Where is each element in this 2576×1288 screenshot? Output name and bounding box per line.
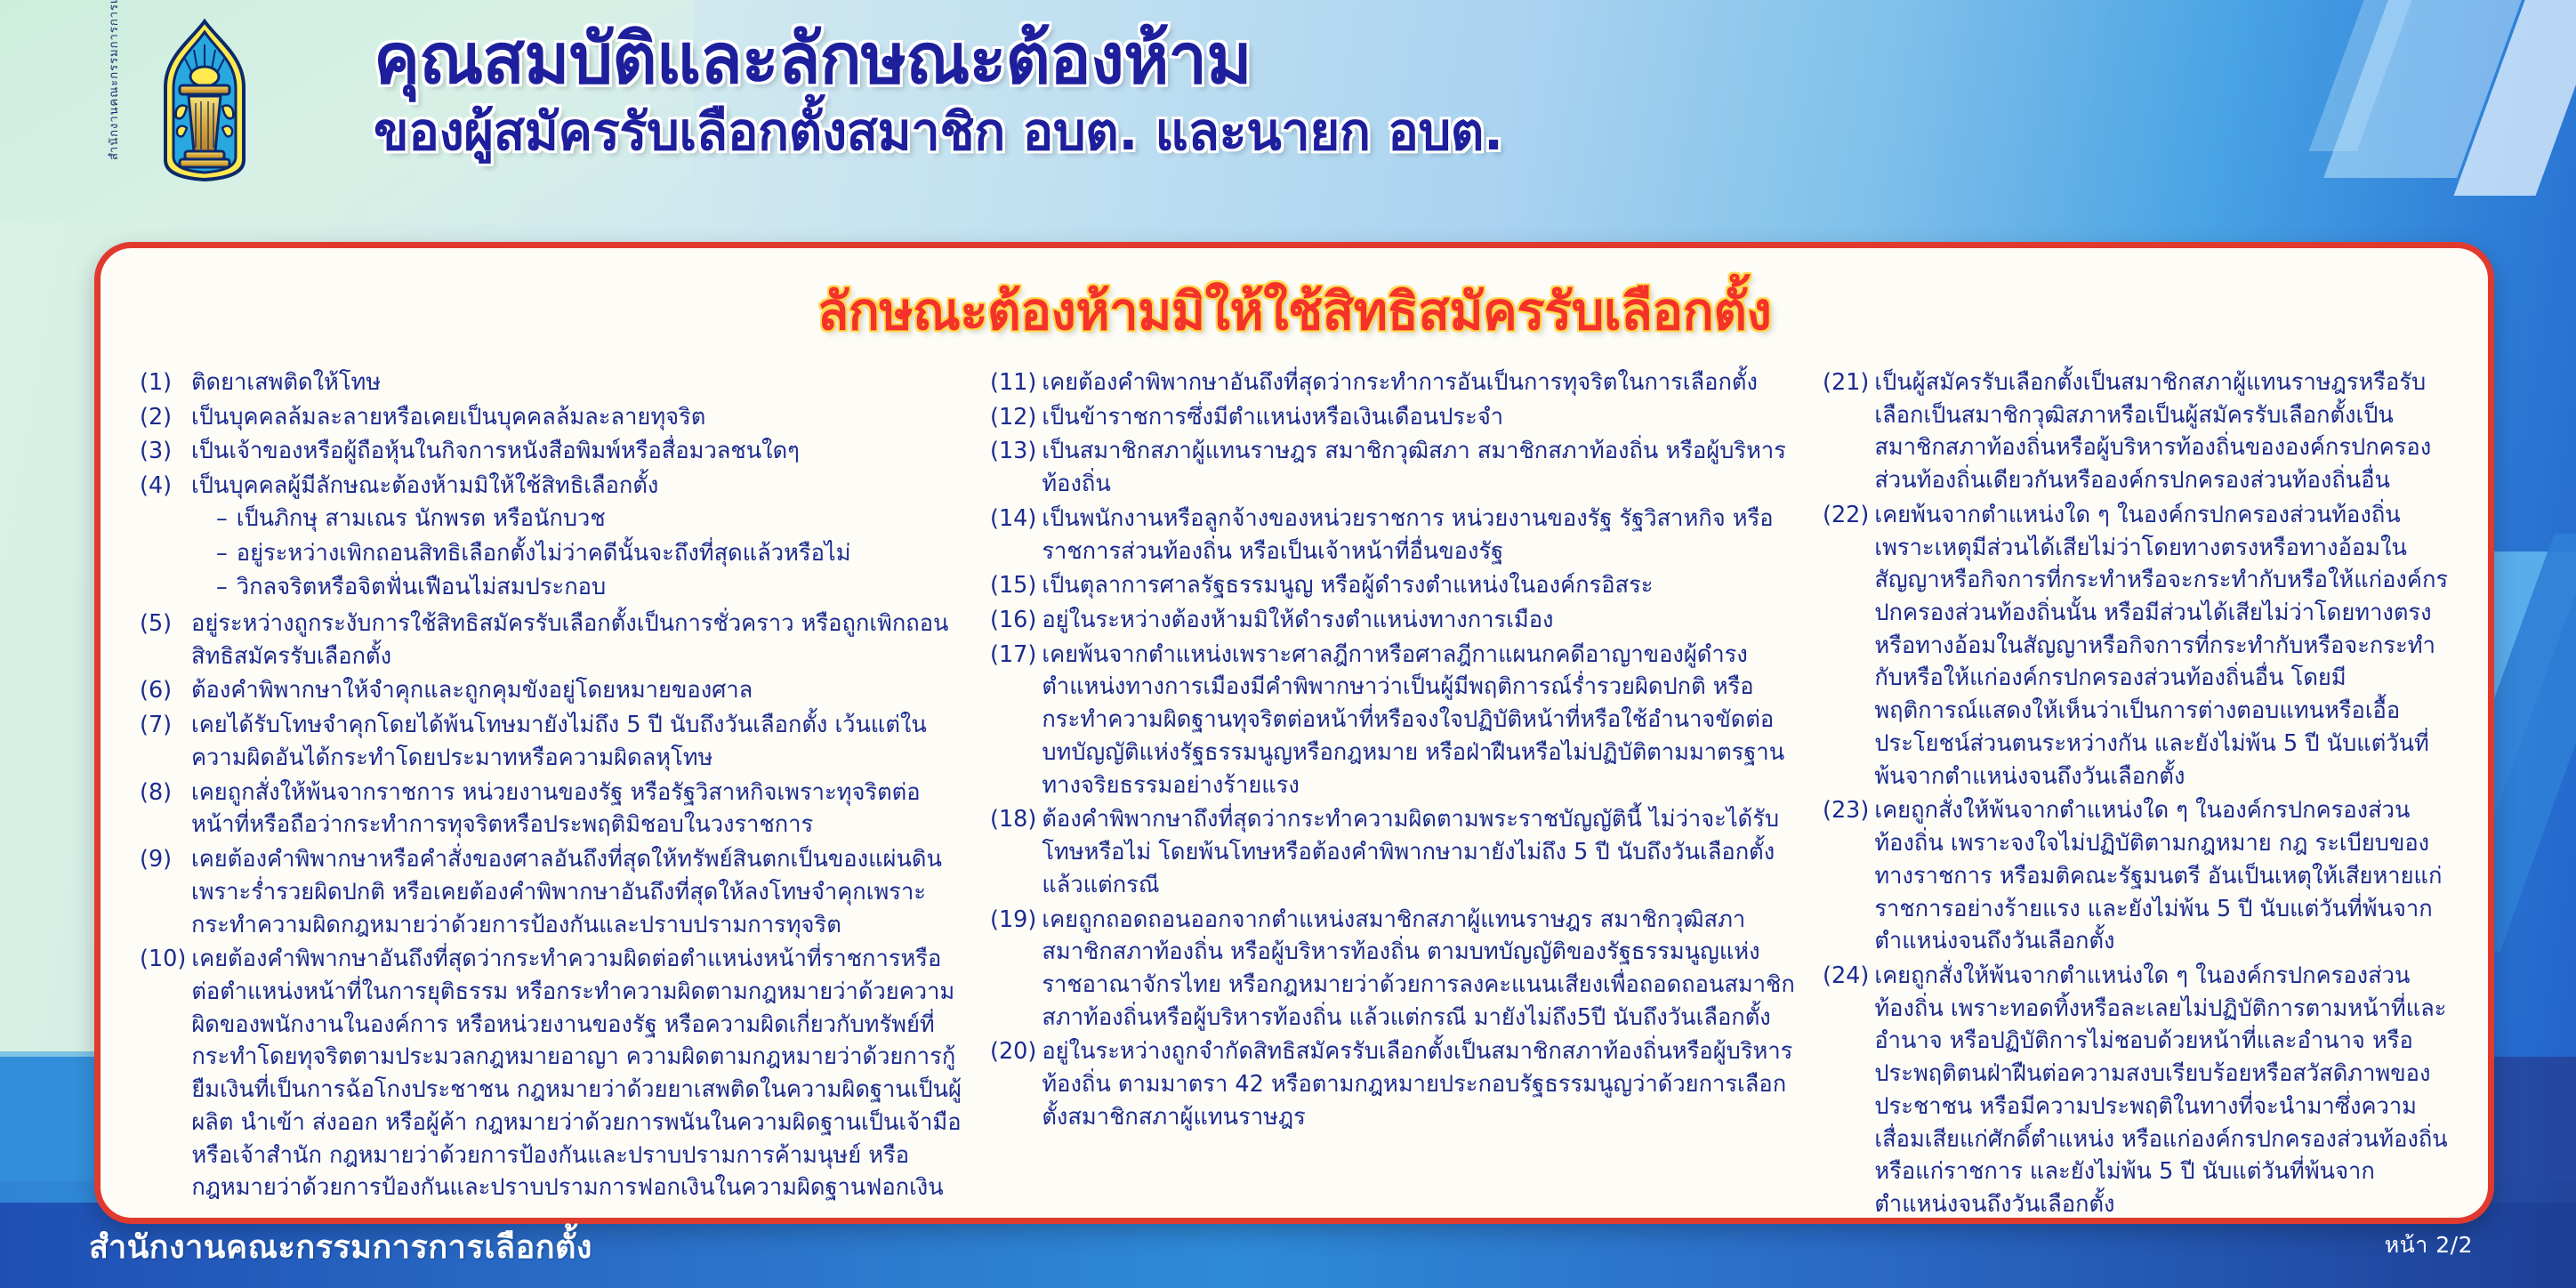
prohibition-item-text: ต้องคำพิพากษาถึงที่สุดว่ากระทำความผิดตาม… xyxy=(1042,803,1798,901)
prohibition-item: (13)เป็นสมาชิกสภาผู้แทนราษฎร สมาชิกวุฒิส… xyxy=(990,435,1798,500)
prohibition-item: (24)เคยถูกสั่งให้พ้นจากตำแหน่งใด ๆ ในองค… xyxy=(1823,960,2449,1221)
prohibition-item: (14)เป็นพนักงานหรือลูกจ้างของหน่วยราชการ… xyxy=(990,503,1798,568)
prohibition-item: (25)ลักษณะอื่นตามที่กฎหมายว่าด้วยการจัดต… xyxy=(1823,1223,2449,1224)
prohibition-item-text: ติดยาเสพติดให้โทษ xyxy=(191,366,965,399)
prohibition-item-number: (22) xyxy=(1823,499,1874,532)
prohibition-item: (23)เคยถูกสั่งให้พ้นจากตำแหน่งใด ๆ ในองค… xyxy=(1823,794,2449,958)
prohibition-item-number: (4) xyxy=(140,470,191,503)
prohibition-item: (4)เป็นบุคคลผู้มีลักษณะต้องห้ามมิให้ใช้ส… xyxy=(140,470,965,606)
column-2: (11)เคยต้องคำพิพากษาอันถึงที่สุดว่ากระทำ… xyxy=(978,366,1810,1224)
prohibition-subitem: –วิกลจริตหรือจิตฟั่นเฟือนไม่สมประกอบ xyxy=(191,571,965,604)
prohibition-item-number: (21) xyxy=(1823,366,1874,399)
prohibition-item: (2)เป็นบุคคลล้มละลายหรือเคยเป็นบุคคลล้มล… xyxy=(140,401,965,434)
content-card: ลักษณะต้องห้ามมิให้ใช้สิทธิสมัครรับเลือก… xyxy=(94,242,2494,1224)
prohibition-item: (16)อยู่ในระหว่างต้องห้ามมิให้ดำรงตำแหน่… xyxy=(990,604,1798,637)
column-3: (21)เป็นผู้สมัครรับเลือกตั้งเป็นสมาชิกสภ… xyxy=(1810,366,2461,1224)
prohibition-item-number: (13) xyxy=(990,435,1042,468)
dash-bullet-icon: – xyxy=(216,537,237,570)
prohibition-item-text: เป็นบุคคลผู้มีลักษณะต้องห้ามมิให้ใช้สิทธ… xyxy=(191,472,658,499)
prohibition-item-text: เคยพ้นจากตำแหน่งใด ๆ ในองค์กรปกครองส่วนท… xyxy=(1874,499,2449,793)
prohibition-item: (20)อยู่ในระหว่างถูกจำกัดสิทธิสมัครรับเล… xyxy=(990,1035,1798,1133)
prohibition-item: (11)เคยต้องคำพิพากษาอันถึงที่สุดว่ากระทำ… xyxy=(990,366,1798,399)
footer-organization: สำนักงานคณะกรรมการการเลือกตั้ง xyxy=(89,1221,592,1272)
prohibition-item-text: อยู่ในระหว่างถูกจำกัดสิทธิสมัครรับเลือกต… xyxy=(1042,1035,1798,1133)
prohibition-item-number: (20) xyxy=(990,1035,1042,1068)
prohibition-item-text: เคยถูกสั่งให้พ้นจากตำแหน่งใด ๆ ในองค์กรป… xyxy=(1874,794,2449,958)
prohibition-item: (15)เป็นตุลาการศาลรัฐธรรมนูญ หรือผู้ดำรง… xyxy=(990,569,1798,602)
prohibition-item-text: เป็นตุลาการศาลรัฐธรรมนูญ หรือผู้ดำรงตำแห… xyxy=(1042,569,1798,602)
prohibition-item-text: เคยต้องคำพิพากษาอันถึงที่สุดว่ากระทำความ… xyxy=(191,943,965,1204)
prohibition-item-number: (3) xyxy=(140,435,191,468)
prohibition-item: (19)เคยถูกถอดถอนออกจากตำแหน่งสมาชิกสภาผู… xyxy=(990,904,1798,1034)
header: สำนักงานคณะกรรมการการเลือกตั้ง xyxy=(0,0,2576,238)
prohibition-item-text: เป็นผู้สมัครรับเลือกตั้งเป็นสมาชิกสภาผู้… xyxy=(1874,366,2449,497)
prohibition-item-number: (10) xyxy=(140,943,191,976)
prohibition-item: (1)ติดยาเสพติดให้โทษ xyxy=(140,366,965,399)
prohibition-subitem-text: อยู่ระหว่างเพิกถอนสิทธิเลือกตั้งไม่ว่าคด… xyxy=(237,537,851,570)
columns-container: (1)ติดยาเสพติดให้โทษ(2)เป็นบุคคลล้มละลาย… xyxy=(101,352,2488,1224)
dash-bullet-icon: – xyxy=(216,571,237,604)
prohibition-item-number: (14) xyxy=(990,503,1042,535)
prohibition-list-1: (1)ติดยาเสพติดให้โทษ(2)เป็นบุคคลล้มละลาย… xyxy=(140,366,965,1204)
prohibition-item: (6)ต้องคำพิพากษาให้จำคุกและถูกคุมขังอยู่… xyxy=(140,674,965,707)
prohibition-item-number: (1) xyxy=(140,366,191,399)
prohibition-item-text: เคยถูกถอดถอนออกจากตำแหน่งสมาชิกสภาผู้แทน… xyxy=(1042,904,1798,1034)
prohibition-item: (8)เคยถูกสั่งให้พ้นจากราชการ หน่วยงานของ… xyxy=(140,777,965,841)
ect-seal-icon xyxy=(133,18,276,187)
prohibition-item-body: เป็นบุคคลผู้มีลักษณะต้องห้ามมิให้ใช้สิทธ… xyxy=(191,470,965,606)
prohibition-item: (9)เคยต้องคำพิพากษาหรือคำสั่งของศาลอันถึ… xyxy=(140,843,965,941)
prohibition-item-text: เป็นพนักงานหรือลูกจ้างของหน่วยราชการ หน่… xyxy=(1042,503,1798,568)
prohibition-item: (5)อยู่ระหว่างถูกระงับการใช้สิทธิสมัครรั… xyxy=(140,608,965,672)
page-title-line1: คุณสมบัติและลักษณะต้องห้าม xyxy=(374,25,2469,96)
footer-page-number: หน้า 2/2 xyxy=(2385,1228,2473,1263)
prohibition-item-number: (15) xyxy=(990,569,1042,602)
title-block: คุณสมบัติและลักษณะต้องห้าม ของผู้สมัครรั… xyxy=(374,25,2469,158)
dash-bullet-icon: – xyxy=(216,503,237,535)
prohibition-subitem-text: วิกลจริตหรือจิตฟั่นเฟือนไม่สมประกอบ xyxy=(237,571,606,604)
prohibition-subitem-list: –เป็นภิกษุ สามเณร นักพรต หรือนักบวช–อยู่… xyxy=(191,503,965,604)
prohibition-item: (3)เป็นเจ้าของหรือผู้ถือหุ้นในกิจการหนัง… xyxy=(140,435,965,468)
prohibition-item-number: (2) xyxy=(140,401,191,434)
prohibition-item: (18)ต้องคำพิพากษาถึงที่สุดว่ากระทำความผิ… xyxy=(990,803,1798,901)
page-title-line2: ของผู้สมัครรับเลือกตั้งสมาชิก อบต. และนา… xyxy=(374,105,2469,159)
prohibition-list-3: (21)เป็นผู้สมัครรับเลือกตั้งเป็นสมาชิกสภ… xyxy=(1823,366,2449,1224)
prohibition-item-number: (12) xyxy=(990,401,1042,434)
prohibition-item-text: เคยพ้นจากตำแหน่งเพราะศาลฎีกาหรือศาลฎีกาแ… xyxy=(1042,639,1798,802)
prohibition-item-number: (23) xyxy=(1823,794,1874,827)
prohibition-item-text: เป็นสมาชิกสภาผู้แทนราษฎร สมาชิกวุฒิสภา ส… xyxy=(1042,435,1798,500)
prohibition-list-2: (11)เคยต้องคำพิพากษาอันถึงที่สุดว่ากระทำ… xyxy=(990,366,1798,1134)
prohibition-item-text: อยู่ในระหว่างต้องห้ามมิให้ดำรงตำแหน่งทาง… xyxy=(1042,604,1798,637)
prohibition-item-number: (19) xyxy=(990,904,1042,937)
prohibition-item: (17)เคยพ้นจากตำแหน่งเพราะศาลฎีกาหรือศาลฎ… xyxy=(990,639,1798,802)
prohibition-item-text: ลักษณะอื่นตามที่กฎหมายว่าด้วยการจัดตั้งอ… xyxy=(1874,1223,2449,1224)
prohibition-item-text: เคยต้องคำพิพากษาหรือคำสั่งของศาลอันถึงที… xyxy=(191,843,965,941)
prohibition-item: (7)เคยได้รับโทษจำคุกโดยได้พ้นโทษมายังไม่… xyxy=(140,709,965,774)
prohibition-item: (22)เคยพ้นจากตำแหน่งใด ๆ ในองค์กรปกครองส… xyxy=(1823,499,2449,793)
prohibition-item-text: เคยต้องคำพิพากษาอันถึงที่สุดว่ากระทำการอ… xyxy=(1042,366,1798,399)
prohibition-item-text: เป็นบุคคลล้มละลายหรือเคยเป็นบุคคลล้มละลา… xyxy=(191,401,965,434)
prohibition-item-number: (16) xyxy=(990,604,1042,637)
prohibition-item: (12)เป็นข้าราชการซึ่งมีตำแหน่งหรือเงินเด… xyxy=(990,401,1798,434)
prohibition-item-number: (6) xyxy=(140,674,191,707)
prohibition-item-text: เป็นเจ้าของหรือผู้ถือหุ้นในกิจการหนังสือ… xyxy=(191,435,965,468)
prohibition-item-number: (7) xyxy=(140,709,191,742)
prohibition-item-number: (18) xyxy=(990,803,1042,836)
column-1: (1)ติดยาเสพติดให้โทษ(2)เป็นบุคคลล้มละลาย… xyxy=(127,366,978,1224)
prohibition-item-text: เป็นข้าราชการซึ่งมีตำแหน่งหรือเงินเดือนป… xyxy=(1042,401,1798,434)
prohibition-item-text: เคยถูกสั่งให้พ้นจากราชการ หน่วยงานของรัฐ… xyxy=(191,777,965,841)
prohibition-item-number: (9) xyxy=(140,843,191,876)
prohibition-subitem: –เป็นภิกษุ สามเณร นักพรต หรือนักบวช xyxy=(191,503,965,535)
prohibition-item-text: ต้องคำพิพากษาให้จำคุกและถูกคุมขังอยู่โดย… xyxy=(191,674,965,707)
prohibition-item-number: (11) xyxy=(990,366,1042,399)
prohibition-item-number: (5) xyxy=(140,608,191,640)
card-heading-row: ลักษณะต้องห้ามมิให้ใช้สิทธิสมัครรับเลือก… xyxy=(101,248,2488,352)
prohibition-item-number: (25) xyxy=(1823,1223,1874,1224)
red-section-heading: ลักษณะต้องห้ามมิให้ใช้สิทธิสมัครรับเลือก… xyxy=(817,270,1772,352)
prohibition-item: (21)เป็นผู้สมัครรับเลือกตั้งเป็นสมาชิกสภ… xyxy=(1823,366,2449,497)
prohibition-item: (10)เคยต้องคำพิพากษาอันถึงที่สุดว่ากระทำ… xyxy=(140,943,965,1204)
prohibition-item-number: (17) xyxy=(990,639,1042,672)
prohibition-item-text: อยู่ระหว่างถูกระงับการใช้สิทธิสมัครรับเล… xyxy=(191,608,965,672)
seal-caption: สำนักงานคณะกรรมการการเลือกตั้ง xyxy=(105,36,133,160)
prohibition-subitem: –อยู่ระหว่างเพิกถอนสิทธิเลือกตั้งไม่ว่าค… xyxy=(191,537,965,570)
prohibition-item-text: เคยได้รับโทษจำคุกโดยได้พ้นโทษมายังไม่ถึง… xyxy=(191,709,965,774)
prohibition-item-number: (24) xyxy=(1823,960,1874,993)
prohibition-item-text: เคยถูกสั่งให้พ้นจากตำแหน่งใด ๆ ในองค์กรป… xyxy=(1874,960,2449,1221)
prohibition-subitem-text: เป็นภิกษุ สามเณร นักพรต หรือนักบวช xyxy=(237,503,606,535)
prohibition-item-number: (8) xyxy=(140,777,191,809)
poster-root: สำนักงานคณะกรรมการการเลือกตั้ง xyxy=(0,0,2576,1288)
